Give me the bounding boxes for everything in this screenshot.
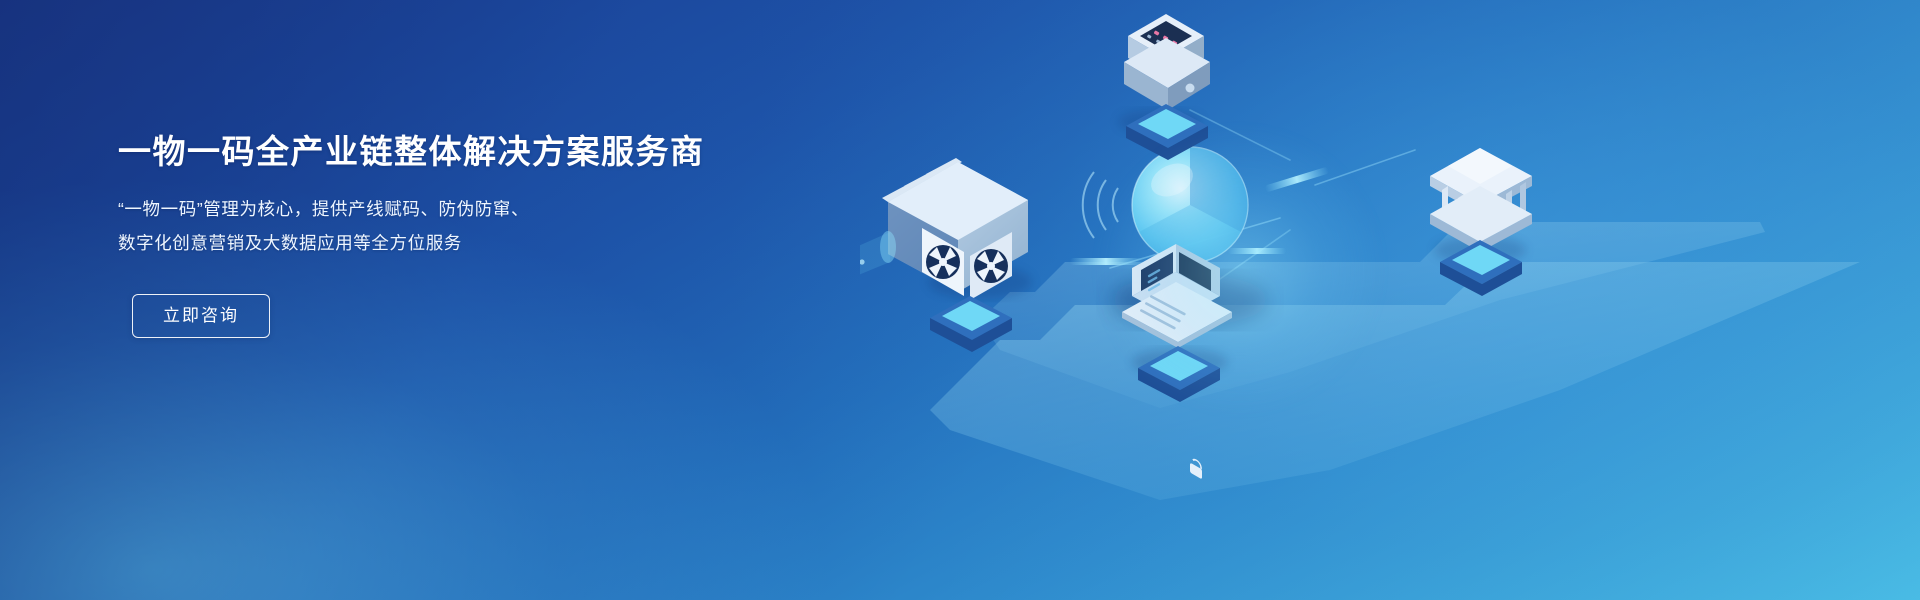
consult-now-button[interactable]: 立即咨询 xyxy=(132,294,270,338)
isometric-platform xyxy=(930,222,1860,500)
hero-banner: 一物一码全产业链整体解决方案服务商 “一物一码”管理为核心，提供产线赋码、防伪防… xyxy=(0,0,1920,600)
page-title: 一物一码全产业链整体解决方案服务商 xyxy=(118,128,758,176)
hero-subtitle-line-1: “一物一码”管理为核心，提供产线赋码、防伪防窜、 xyxy=(118,192,758,226)
bank-building-icon xyxy=(1430,148,1532,296)
hero-illustration xyxy=(860,0,1920,600)
hero-copy-block: 一物一码全产业链整体解决方案服务商 “一物一码”管理为核心，提供产线赋码、防伪防… xyxy=(118,128,758,338)
pos-terminal-icon xyxy=(1118,14,1210,160)
server-rack-fans-icon xyxy=(860,158,1032,352)
hero-subtitle-line-2: 数字化创意营销及大数据应用等全方位服务 xyxy=(118,226,758,260)
